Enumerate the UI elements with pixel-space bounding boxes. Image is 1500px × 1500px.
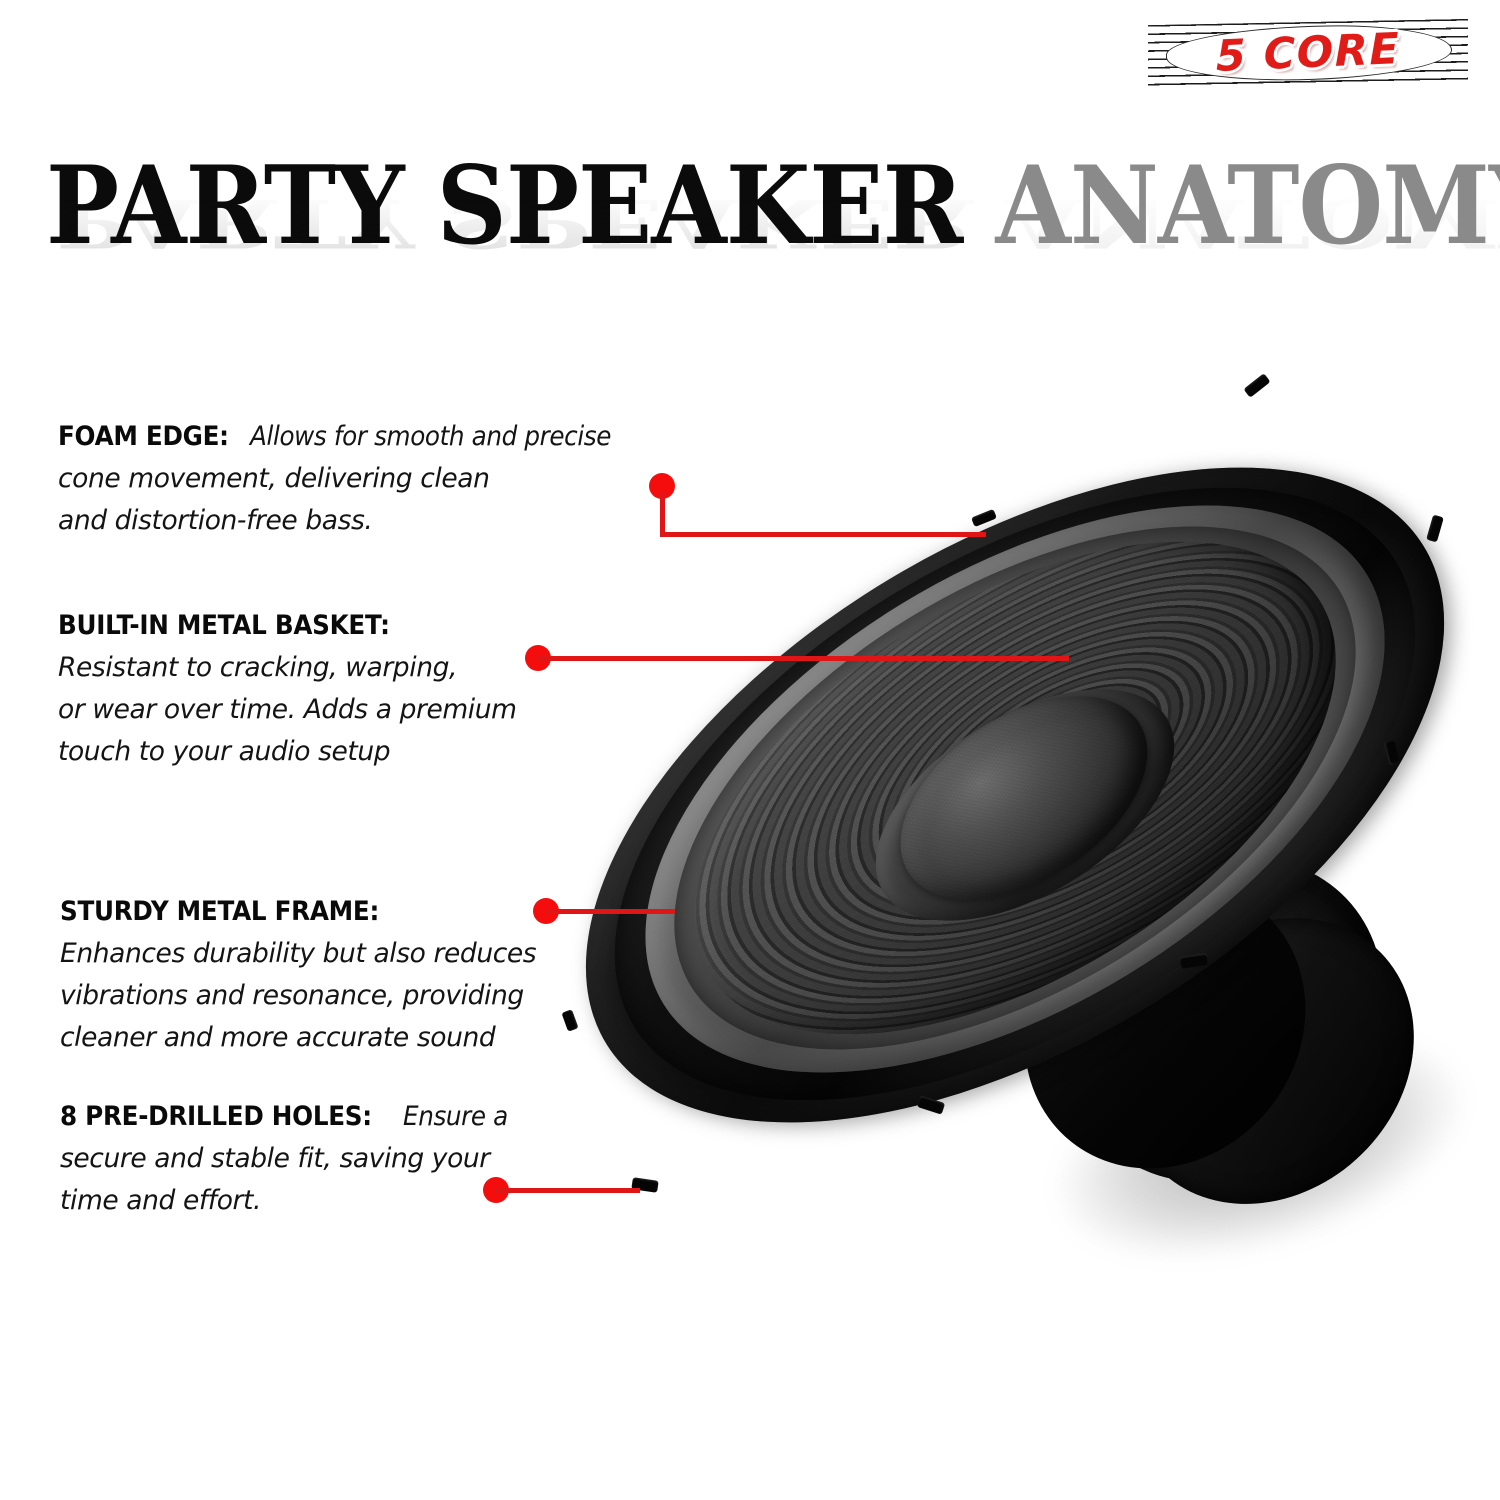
five-core-logo: 5 CORE <box>1148 22 1468 84</box>
callout-pre-drilled-holes-label: 8 PRE-DRILLED HOLES: <box>60 1098 372 1136</box>
title-reflection: PARTY SPEAKER ANATOMY <box>56 189 1500 256</box>
callout-built-in-metal-basket-line-3: touch to your audio setup <box>58 733 598 775</box>
callout-pre-drilled-holes: 8 PRE-DRILLED HOLES: Ensure a secure and… <box>60 1098 600 1224</box>
callout-built-in-metal-basket: BUILT-IN METAL BASKET: Resistant to crac… <box>58 607 598 775</box>
callout-built-in-metal-basket-line-1: Resistant to cracking, warping, <box>58 649 598 691</box>
callout-foam-edge-label: FOAM EDGE: <box>58 418 229 456</box>
callout-sturdy-metal-frame-line-3: cleaner and more accurate sound <box>60 1019 605 1061</box>
page-title: PARTY SPEAKER ANATOMY PARTY SPEAKER ANAT… <box>46 152 1456 302</box>
callout-pre-drilled-holes-line-1: 8 PRE-DRILLED HOLES: Ensure a <box>60 1098 600 1140</box>
title-reflection-dark: PARTY SPEAKER <box>56 183 972 261</box>
callout-sturdy-metal-frame-line-1: Enhances durability but also reduces <box>60 935 605 977</box>
callout-sturdy-metal-frame-line-2: vibrations and resonance, providing <box>60 977 605 1019</box>
leader-segment-horizontal-metal-basket <box>537 656 1069 661</box>
callout-built-in-metal-basket-label-row: BUILT-IN METAL BASKET: <box>58 607 598 649</box>
callout-sturdy-metal-frame: STURDY METAL FRAME: Enhances durability … <box>60 893 605 1061</box>
callout-foam-edge-text-1: Allows for smooth and precise <box>250 418 611 456</box>
pre-drilled-hole-tab-1 <box>1243 373 1270 398</box>
leader-line-metal-basket <box>525 645 1070 673</box>
callout-pre-drilled-holes-line-3: time and effort. <box>60 1182 600 1224</box>
callout-built-in-metal-basket-label: BUILT-IN METAL BASKET: <box>58 607 390 645</box>
callout-sturdy-metal-frame-label: STURDY METAL FRAME: <box>60 893 379 931</box>
pre-drilled-hole-tab-2 <box>1426 514 1444 542</box>
callout-pre-drilled-holes-line-2: secure and stable fit, saving your <box>60 1140 600 1182</box>
callout-foam-edge-line-3: and distortion-free bass. <box>58 502 718 544</box>
callout-foam-edge-line-1: FOAM EDGE: Allows for smooth and precise <box>58 418 718 460</box>
callout-built-in-metal-basket-line-2: or wear over time. Adds a premium <box>58 691 598 733</box>
callout-foam-edge-line-2: cone movement, delivering clean <box>58 460 718 502</box>
title-reflection-gray: ANATOMY <box>1005 183 1500 261</box>
callout-pre-drilled-holes-text-1: Ensure a <box>403 1098 508 1136</box>
callout-foam-edge: FOAM EDGE: Allows for smooth and precise… <box>58 418 718 544</box>
callout-sturdy-metal-frame-label-row: STURDY METAL FRAME: <box>60 893 605 935</box>
